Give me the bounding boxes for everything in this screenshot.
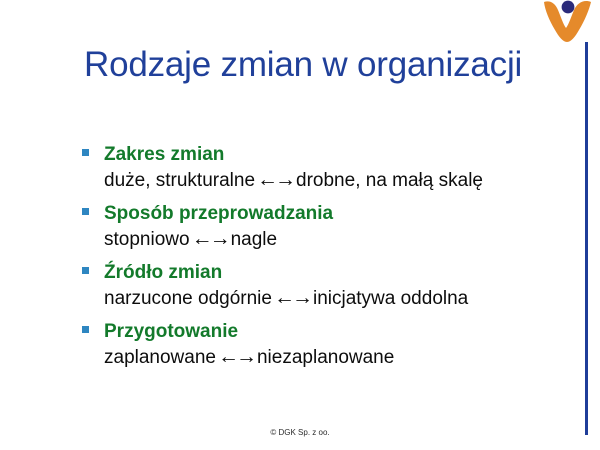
bidirectional-arrow-icon: ←→ [190,227,231,250]
bullet-right-term: inicjatywa oddolna [313,288,468,309]
bullet-subtext: stopniowo←→nagle [104,226,572,253]
bullet-heading: Przygotowanie [104,319,572,344]
slide-title: Rodzaje zmian w organizacji [84,44,564,86]
list-item: Sposób przeprowadzania stopniowo←→nagle [82,201,572,253]
bullet-subtext: narzucone odgórnie←→inicjatywa oddolna [104,285,572,312]
bidirectional-arrow-icon: ←→ [255,168,296,191]
bidirectional-arrow-icon: ←→ [272,286,313,309]
square-bullet-icon [82,326,89,333]
bullet-heading: Zakres zmian [104,142,572,167]
bullet-heading: Źródło zmian [104,260,572,285]
right-vertical-rule [585,42,588,435]
bullet-right-term: nagle [231,229,278,250]
list-item: Zakres zmian duże, strukturalne←→drobne,… [82,142,572,194]
bullet-right-term: drobne, na małą skalę [296,170,483,191]
bullet-heading: Sposób przeprowadzania [104,201,572,226]
company-logo-icon [542,0,594,44]
bullet-list: Zakres zmian duże, strukturalne←→drobne,… [82,142,572,378]
list-item: Źródło zmian narzucone odgórnie←→inicjat… [82,260,572,312]
slide-footer-copyright: © DGK Sp. z oo. [0,427,600,438]
bullet-subtext: duże, strukturalne←→drobne, na małą skal… [104,167,572,194]
bullet-subtext: zaplanowane←→niezaplanowane [104,344,572,371]
list-item: Przygotowanie zaplanowane←→niezaplanowan… [82,319,572,371]
square-bullet-icon [82,208,89,215]
bullet-right-term: niezaplanowane [257,347,394,368]
bullet-left-term: duże, strukturalne [104,170,255,191]
bullet-left-term: narzucone odgórnie [104,288,272,309]
slide-canvas: Rodzaje zmian w organizacji Zakres zmian… [0,0,600,450]
bullet-left-term: stopniowo [104,229,190,250]
square-bullet-icon [82,267,89,274]
bullet-left-term: zaplanowane [104,347,216,368]
bidirectional-arrow-icon: ←→ [216,345,257,368]
square-bullet-icon [82,149,89,156]
